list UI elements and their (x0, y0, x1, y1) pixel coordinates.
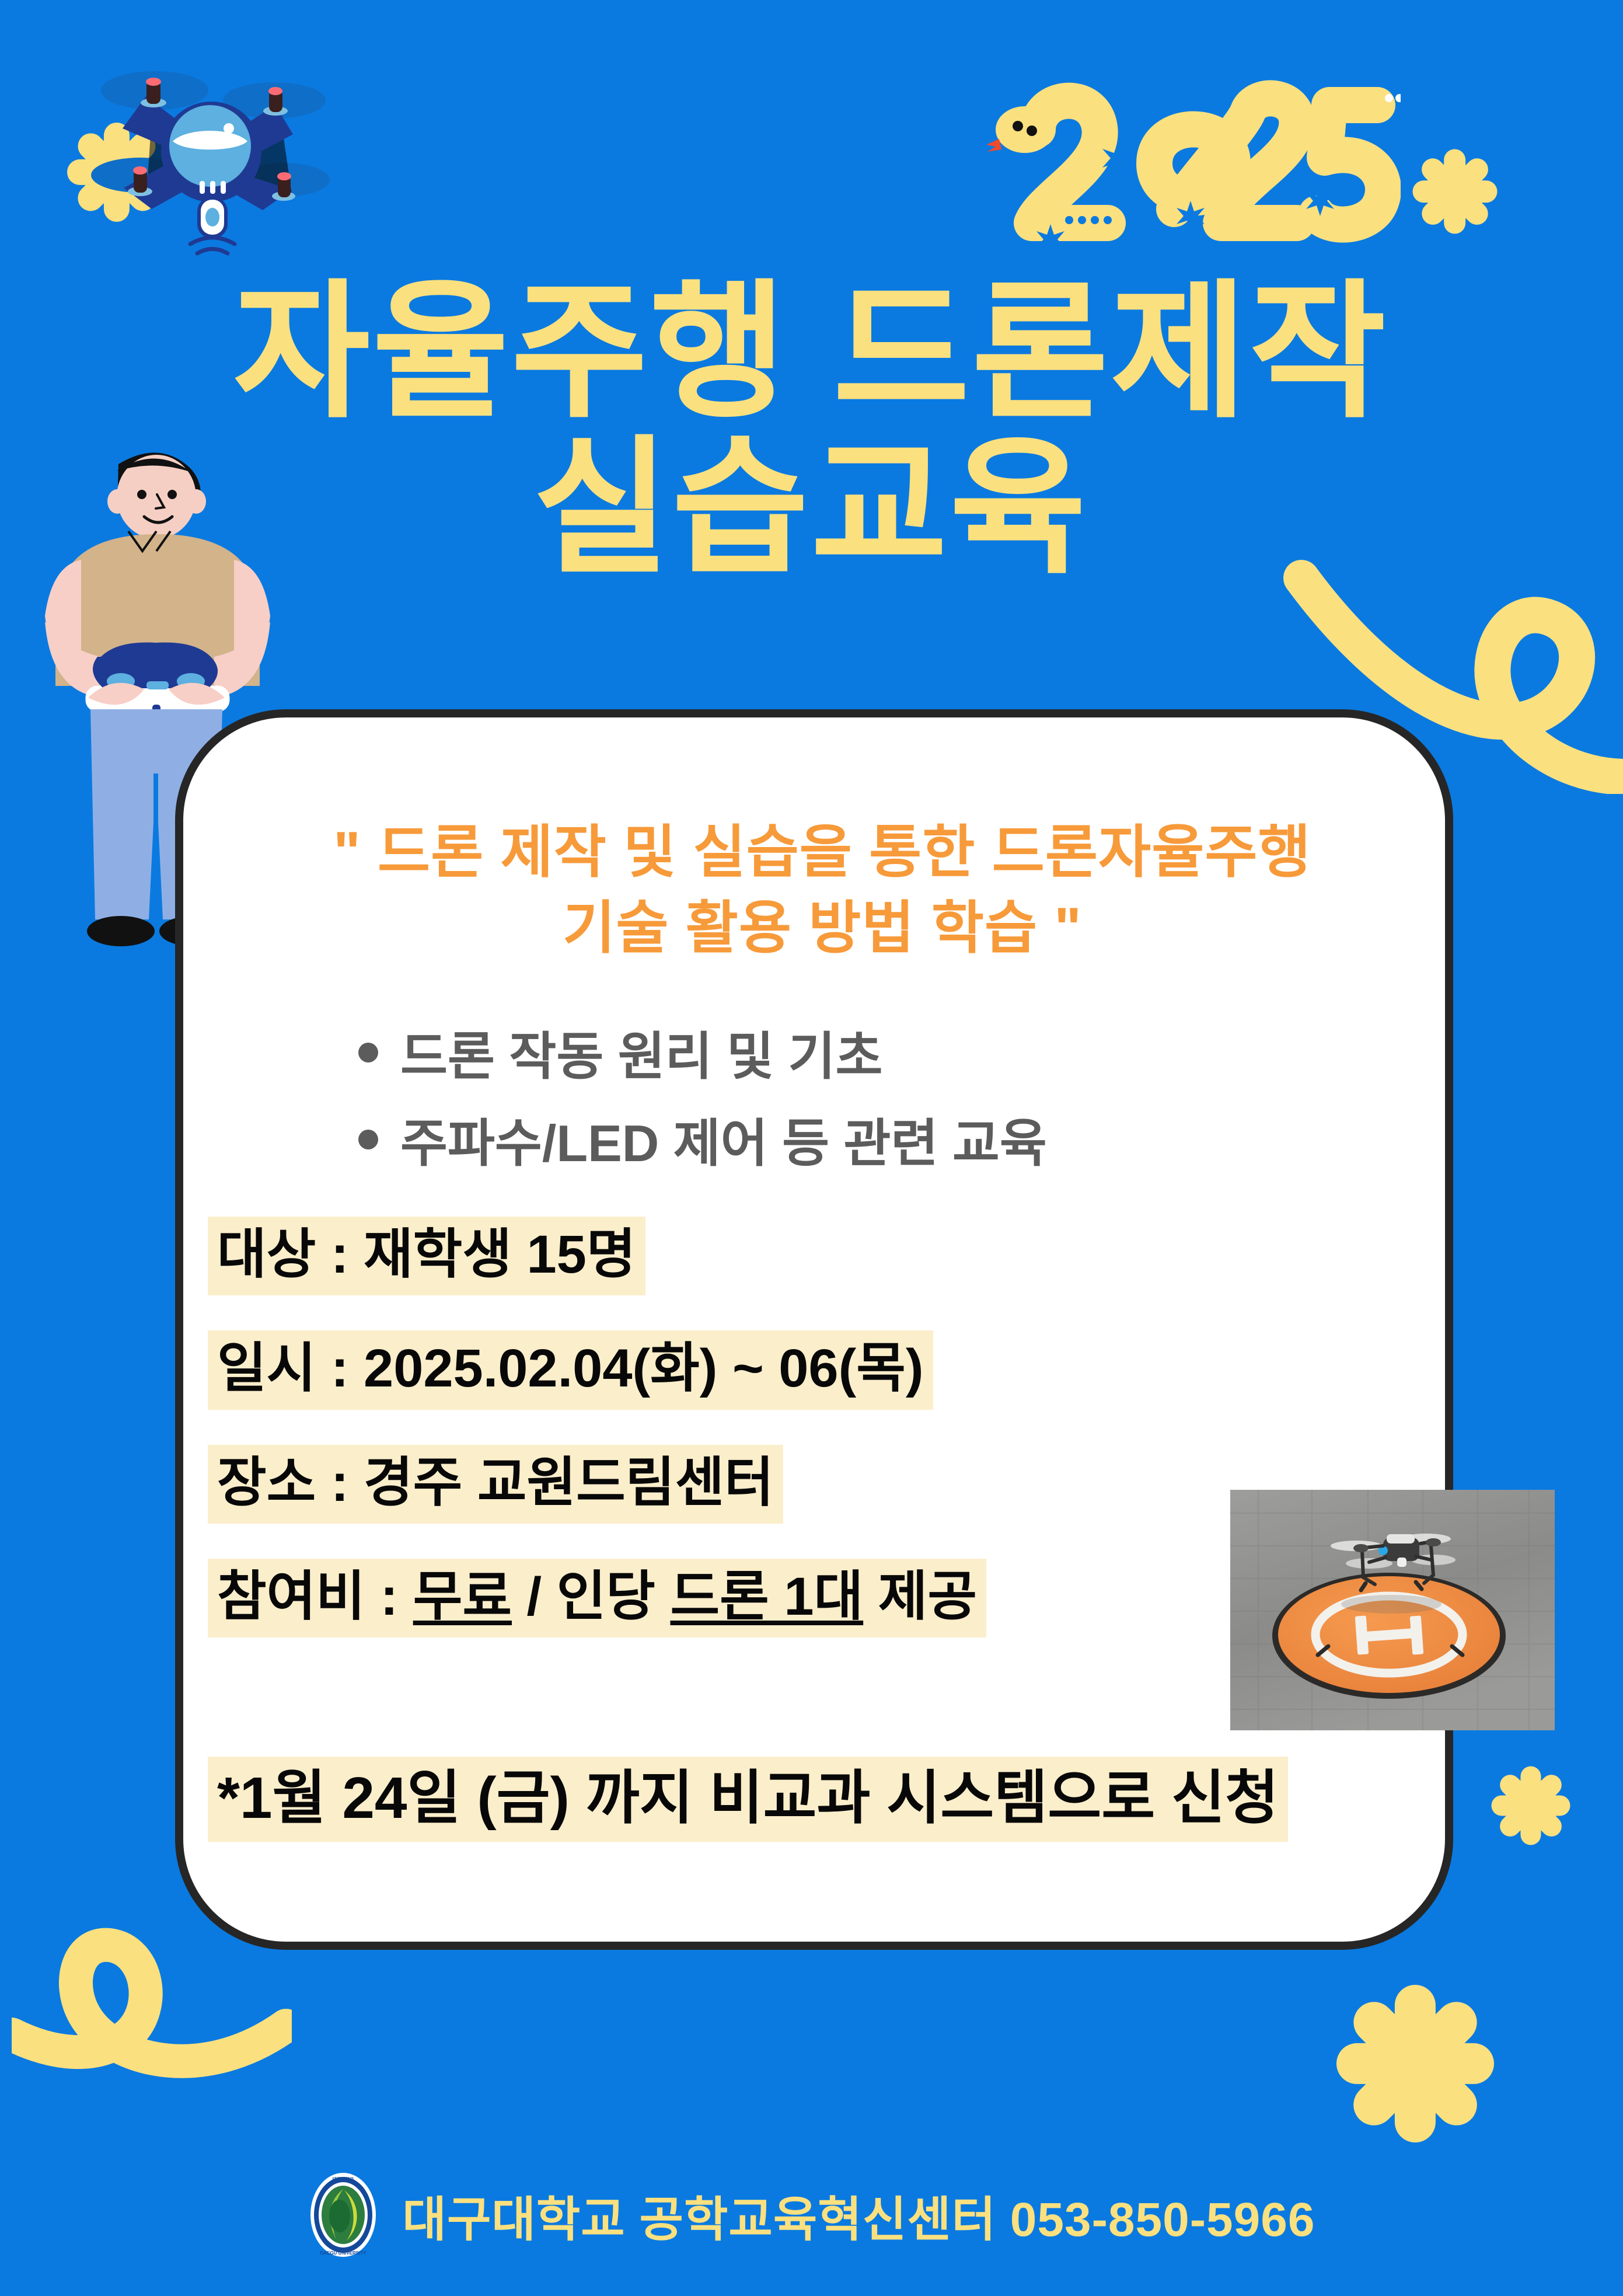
fee-drone: 드론 1대 (671, 1567, 864, 1626)
list-item: 드론 작동 원리 및 기초 (358, 1015, 1350, 1089)
deadline-text: *1월 24일 (금) 까지 비교과 시스템으로 신청 (208, 1757, 1288, 1842)
info-row-date: 일시 : 2025.02.04(화) ~ 06(목) (208, 1330, 1404, 1409)
snake-2025-icon (969, 64, 1401, 251)
fee-prefix: 참여비 : (217, 1567, 413, 1626)
info-row-location: 장소 : 경주 교원드림센터 (208, 1445, 1404, 1524)
svg-text:대구대학교: 대구대학교 (332, 2176, 354, 2182)
bullet-list: 드론 작동 원리 및 기초 주파수/LED 제어 등 관련 교육 (358, 1015, 1350, 1189)
asterisk-icon (1412, 149, 1497, 234)
info-row-target: 대상 : 재학생 15명 (208, 1217, 1404, 1295)
info-fee-text: 참여비 : 무료 / 인당 드론 1대 제공 (208, 1559, 986, 1637)
fee-middle: / 인당 (512, 1567, 671, 1626)
info-list: 대상 : 재학생 15명 일시 : 2025.02.04(화) ~ 06(목) … (208, 1217, 1404, 1673)
bullet-dot-icon (358, 1130, 378, 1149)
bullet-label: 주파수/LED 제어 등 관련 교육 (400, 1102, 1047, 1176)
info-date-text: 일시 : 2025.02.04(화) ~ 06(목) (208, 1330, 933, 1409)
asterisk-icon (1336, 1985, 1494, 2142)
asterisk-icon (1491, 1766, 1570, 1845)
list-item: 주파수/LED 제어 등 관련 교육 (358, 1102, 1350, 1176)
drone-icon (88, 64, 333, 257)
fee-free: 무료 (413, 1567, 512, 1626)
university-seal-icon: 대구대학교 DAEGU UNIVERSITY (308, 2172, 378, 2258)
info-location-text: 장소 : 경주 교원드림센터 (208, 1445, 783, 1524)
info-row-fee: 참여비 : 무료 / 인당 드론 1대 제공 (208, 1559, 1404, 1637)
bullet-dot-icon (358, 1043, 378, 1062)
quote-text: " 드론 제작 및 실습을 통한 드론자율주행 기술 활용 방법 학습 " (207, 814, 1438, 966)
title-line-1: 자율주행 드론제작 (0, 274, 1623, 430)
info-target-text: 대상 : 재학생 15명 (208, 1217, 645, 1295)
drone-helipad-photo (1230, 1490, 1555, 1730)
bullet-label: 드론 작동 원리 및 기초 (400, 1015, 882, 1089)
quote-line-1: " 드론 제작 및 실습을 통한 드론자율주행 (207, 814, 1438, 890)
fee-suffix: 제공 (863, 1567, 977, 1626)
info-card: " 드론 제작 및 실습을 통한 드론자율주행 기술 활용 방법 학습 " 드론… (175, 709, 1453, 1950)
deadline-notice: *1월 24일 (금) 까지 비교과 시스템으로 신청 (208, 1757, 1433, 1842)
footer: 대구대학교 DAEGU UNIVERSITY 대구대학교 공학교육혁신센터 05… (0, 2172, 1623, 2258)
svg-text:DAEGU UNIVERSITY: DAEGU UNIVERSITY (320, 2250, 367, 2256)
footer-organization-text: 대구대학교 공학교육혁신센터 053-850-5966 (403, 2180, 1315, 2250)
poster-root: 자율주행 드론제작 실습교육 (0, 0, 1623, 2296)
quote-line-2: 기술 활용 방법 학습 " (207, 890, 1438, 966)
